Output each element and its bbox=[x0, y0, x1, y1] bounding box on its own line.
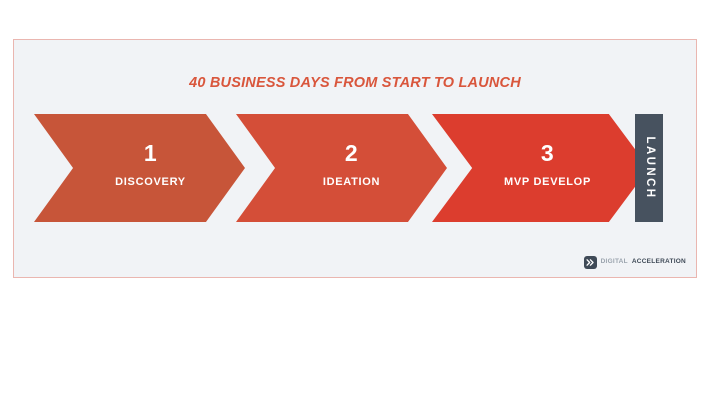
brand-word-digital: DIGITAL bbox=[601, 259, 628, 266]
double-chevron-icon bbox=[584, 256, 597, 269]
process-steps-row: 1 DISCOVERY 2 IDEATION 3 MVP DEVELOP LAU… bbox=[14, 114, 696, 222]
process-step-2[interactable]: 2 IDEATION bbox=[236, 114, 447, 222]
process-step-3[interactable]: 3 MVP DEVELOP bbox=[432, 114, 649, 222]
brand-logo: DIGITAL ACCELERATION bbox=[584, 256, 686, 269]
step-label: DISCOVERY bbox=[34, 177, 245, 188]
launch-label: LAUNCH bbox=[643, 137, 655, 200]
step-label: MVP DEVELOP bbox=[432, 177, 649, 188]
step-label: IDEATION bbox=[236, 177, 447, 188]
launch-milestone-block[interactable]: LAUNCH bbox=[635, 114, 663, 222]
brand-word-acceleration: ACCELERATION bbox=[632, 259, 686, 266]
process-diagram-card: 40 BUSINESS DAYS FROM START TO LAUNCH 1 … bbox=[13, 39, 697, 278]
step-number: 2 bbox=[236, 142, 447, 165]
step-number: 1 bbox=[34, 142, 245, 165]
process-step-1[interactable]: 1 DISCOVERY bbox=[34, 114, 245, 222]
step-number: 3 bbox=[432, 142, 649, 165]
page-title: 40 BUSINESS DAYS FROM START TO LAUNCH bbox=[14, 76, 696, 91]
